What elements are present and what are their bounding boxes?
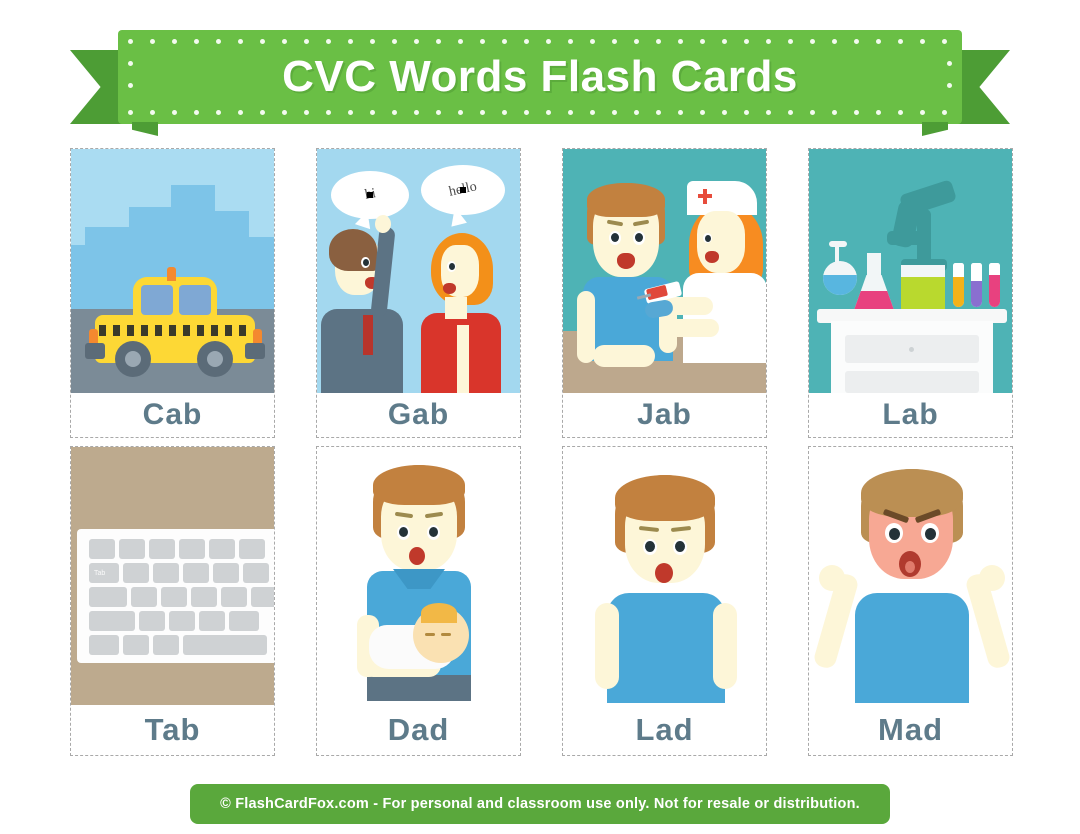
speech-bubble-hello-text: hello <box>448 179 479 200</box>
card-illustration-dad <box>317 447 520 705</box>
flash-card-cab[interactable]: Cab <box>70 148 275 438</box>
card-illustration-gab: hi hello <box>317 149 520 393</box>
speech-bubble-hi-text: hi <box>363 186 377 204</box>
footer-text: © FlashCardFox.com - For personal and cl… <box>220 796 860 812</box>
card-label-gab: Gab <box>317 393 520 437</box>
card-label-mad: Mad <box>809 705 1012 755</box>
card-illustration-lab <box>809 149 1012 393</box>
flash-card-lab[interactable]: Lab <box>808 148 1013 438</box>
keyboard-tab-key: Tab <box>89 563 119 583</box>
flash-card-mad[interactable]: Mad <box>808 446 1013 756</box>
card-label-jab: Jab <box>563 393 766 437</box>
banner-fold-left-icon <box>132 122 158 136</box>
card-label-lad: Lad <box>563 705 766 755</box>
card-grid: Cab hi hello <box>70 148 1014 766</box>
flash-card-jab[interactable]: Jab <box>562 148 767 438</box>
footer-copyright: © FlashCardFox.com - For personal and cl… <box>190 784 890 824</box>
keyboard-tab-key-label: Tab <box>94 570 105 577</box>
card-label-cab: Cab <box>71 393 274 437</box>
card-label-tab: Tab <box>71 705 274 755</box>
flash-card-tab[interactable]: Tab <box>70 446 275 756</box>
card-illustration-lad <box>563 447 766 705</box>
flash-card-gab[interactable]: hi hello <box>316 148 521 438</box>
flash-card-sheet: CVC Words Flash Cards <box>0 0 1080 834</box>
banner-body: CVC Words Flash Cards <box>118 30 962 124</box>
card-illustration-tab: Tab <box>71 447 274 705</box>
card-label-dad: Dad <box>317 705 520 755</box>
flash-card-lad[interactable]: Lad <box>562 446 767 756</box>
flash-card-dad[interactable]: Dad <box>316 446 521 756</box>
card-illustration-cab <box>71 149 274 393</box>
card-illustration-jab <box>563 149 766 393</box>
page-title: CVC Words Flash Cards <box>118 30 962 124</box>
header-banner: CVC Words Flash Cards <box>0 14 1080 132</box>
banner-fold-right-icon <box>922 122 948 136</box>
card-illustration-mad <box>809 447 1012 705</box>
card-label-lab: Lab <box>809 393 1012 437</box>
